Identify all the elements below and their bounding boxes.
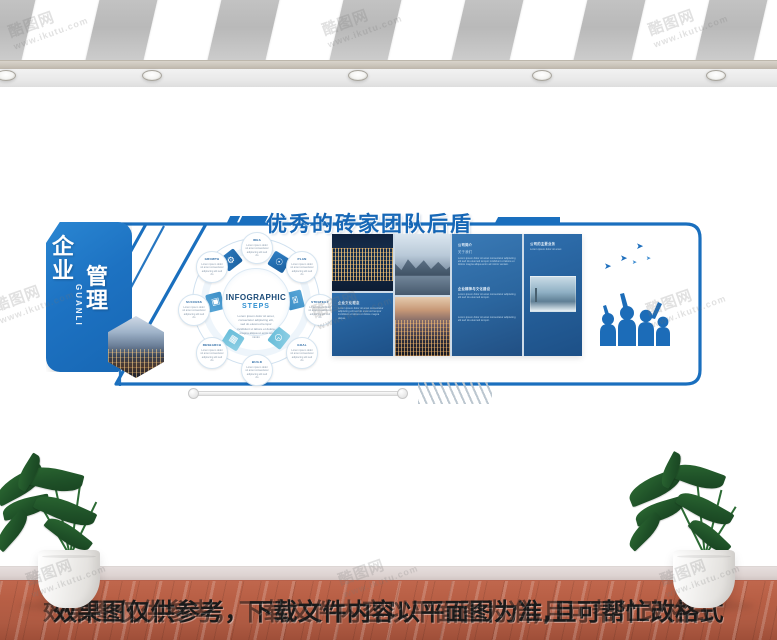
node-body: Lorem ipsum dolor sit amet consectetur a… (308, 306, 332, 319)
node-body: Lorem ipsum dolor sit amet consectetur a… (245, 244, 269, 257)
infographic-node: PLAN Lorem ipsum dolor sit amet consecte… (286, 251, 318, 283)
cheering-people-silhouette (594, 288, 678, 346)
panel-subheading: Lorem ipsum dolor sit amet (530, 248, 576, 251)
node-title: SUCCESS (181, 300, 207, 304)
infographic-center-body: Lorem ipsum dolor sit amet, consectetur … (237, 314, 275, 339)
infographic-node: RESEARCH Lorem ipsum dolor sit amet cons… (196, 337, 228, 369)
downlight-icon (348, 70, 368, 81)
collage-col (395, 234, 450, 356)
title-accent-bracket (506, 217, 560, 225)
bird-icon: ➤ (620, 254, 628, 263)
collage-photo-lakeside (530, 276, 576, 312)
culture-wall: 企业 管理 GUANLI 优秀的砖家团队后盾 ⚙ ☉ ✉ ◷ ▦ ▣ INFOG… (46, 212, 706, 392)
node-title: GOAL (289, 343, 315, 347)
bird-icon: ➤ (646, 256, 651, 262)
node-title: IDEA (244, 238, 270, 242)
node-title: BUILD (244, 360, 270, 364)
node-title: GROWTH (199, 257, 225, 261)
node-body: Lorem ipsum dolor sit amet consectetur a… (182, 306, 206, 319)
collage-text-panel-side: 公司的主要业务 Lorem ipsum dolor sit amet (524, 234, 582, 356)
node-body: Lorem ipsum dolor sit amet consectetur a… (245, 366, 269, 379)
bird-icon: ➤ (604, 262, 612, 271)
infographic-steps: ⚙ ☉ ✉ ◷ ▦ ▣ INFOGRAPHIC STEPS Lorem ipsu… (192, 238, 320, 366)
panel-heading: 公司简介 (458, 242, 516, 247)
node-body: Lorem ipsum dolor sit amet consectetur a… (290, 263, 314, 276)
potted-plant-left (0, 458, 144, 608)
bird-icon: ➤ (632, 260, 637, 266)
downlight-icon (706, 70, 726, 81)
collage-photo-city-night (332, 234, 393, 291)
infographic-node: SUCCESS Lorem ipsum dolor sit amet conse… (178, 294, 210, 326)
panel-body: Lorem ipsum dolor sit amet consectetur a… (458, 257, 516, 267)
screenshot-stage: 企业 管理 GUANLI 优秀的砖家团队后盾 ⚙ ☉ ✉ ◷ ▦ ▣ INFOG… (0, 0, 777, 640)
collage-photo-mountain (395, 234, 450, 295)
panel-heading: 企业精神与文化建设 (458, 286, 516, 291)
node-title: PLAN (289, 257, 315, 261)
node-body: Lorem ipsum dolor sit amet consectetur a… (290, 349, 314, 362)
node-title: RESEARCH (199, 343, 225, 347)
infographic-node: GROWTH Lorem ipsum dolor sit amet consec… (196, 251, 228, 283)
photo-collage: 企业文化理念 Lorem ipsum dolor sit amet consec… (332, 234, 582, 356)
downlight-icon (142, 70, 162, 81)
infographic-node: IDEA Lorem ipsum dolor sit amet consecte… (241, 232, 273, 264)
node-body: Lorem ipsum dolor sit amet consectetur a… (200, 349, 224, 362)
hatch-marks (418, 382, 492, 404)
panel-body: Lorem ipsum dolor sit amet consectetur a… (338, 307, 387, 321)
panel-body: Lorem ipsum dolor sit amet consectetur a… (458, 293, 516, 300)
plant-pot (38, 550, 100, 608)
infographic-center-title: INFOGRAPHIC (223, 293, 289, 302)
brand-line2: 管理 (86, 266, 120, 314)
node-body: Lorem ipsum dolor sit amet consectetur a… (200, 263, 224, 276)
infographic-node: GOAL Lorem ipsum dolor sit amet consecte… (286, 337, 318, 369)
dimension-measure-line (188, 388, 408, 396)
brand-pinyin: GUANLI (74, 284, 83, 327)
collage-text-panel-main: 公司简介 关于我们 Lorem ipsum dolor sit amet con… (452, 234, 522, 356)
plant-pot (673, 550, 735, 608)
panel-body: Lorem ipsum dolor sit amet consectetur a… (458, 316, 516, 323)
panel-subheading: 关于我们 (458, 249, 516, 254)
potted-plant-right (629, 458, 777, 608)
downlight-icon (532, 70, 552, 81)
collage-col: 企业文化理念 Lorem ipsum dolor sit amet consec… (332, 234, 393, 356)
infographic-center: INFOGRAPHIC STEPS Lorem ipsum dolor sit … (222, 268, 290, 336)
infographic-center-subtitle: STEPS (223, 303, 289, 310)
collage-photo-city-dusk (395, 297, 450, 356)
panel-heading: 企业文化理念 (338, 300, 387, 305)
infographic-node: BUILD Lorem ipsum dolor sit amet consect… (241, 354, 273, 386)
collage-text-panel: 企业文化理念 Lorem ipsum dolor sit amet consec… (332, 293, 393, 356)
node-title: STRATEGY (307, 300, 333, 304)
bird-icon: ➤ (636, 242, 644, 251)
panel-heading: 公司的主要业务 (530, 241, 576, 246)
ceiling-band (0, 69, 777, 88)
brand-line1: 企业 (52, 236, 88, 284)
ceiling (0, 0, 777, 62)
title-accent-dash (238, 216, 268, 225)
flying-birds: ➤ ➤ ➤ ➤ ➤ (602, 240, 664, 280)
